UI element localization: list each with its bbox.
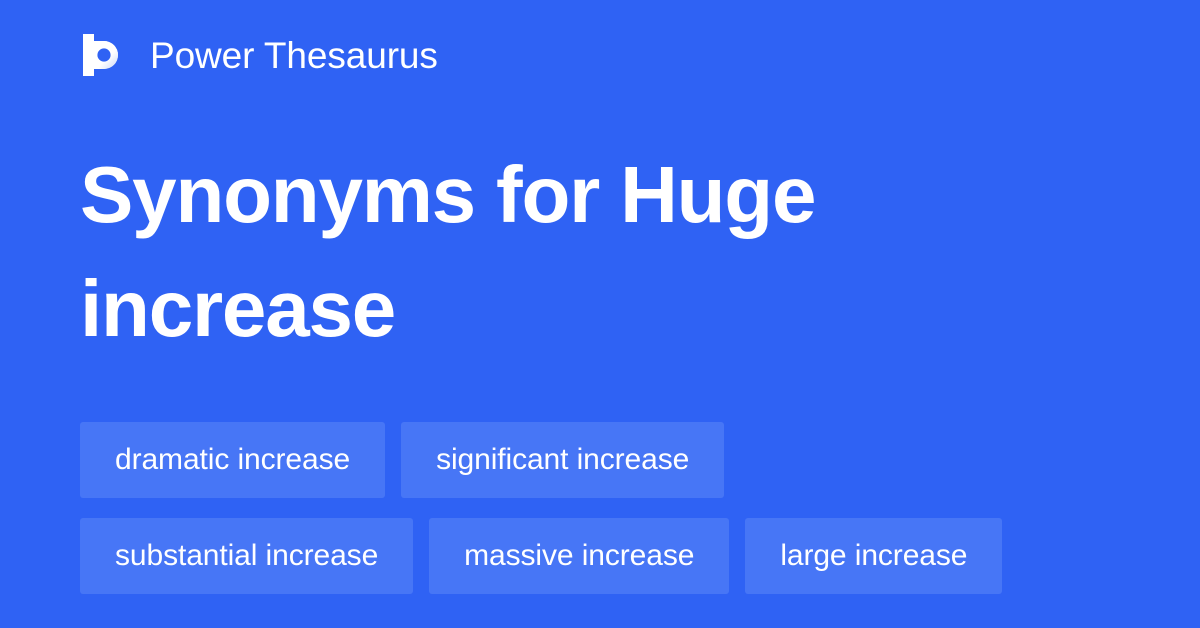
brand-name: Power Thesaurus [150, 37, 438, 74]
synonym-chip[interactable]: significant increase [401, 422, 724, 498]
synonym-chip-row: dramatic increase significant increase [80, 422, 1120, 498]
synonym-chip-row: substantial increase massive increase la… [80, 518, 1120, 594]
synonym-chip[interactable]: dramatic increase [80, 422, 385, 498]
synonym-chip[interactable]: substantial increase [80, 518, 413, 594]
power-thesaurus-b-logo-icon [80, 31, 128, 79]
page-title: Synonyms for Huge increase [80, 138, 960, 366]
synonym-chip-grid: dramatic increase significant increase s… [80, 422, 1120, 594]
brand-logo-lockup[interactable]: Power Thesaurus [80, 26, 438, 84]
synonym-chip[interactable]: large increase [745, 518, 1002, 594]
synonym-chip[interactable]: massive increase [429, 518, 729, 594]
synonyms-share-card: Power Thesaurus Synonyms for Huge increa… [0, 0, 1200, 628]
